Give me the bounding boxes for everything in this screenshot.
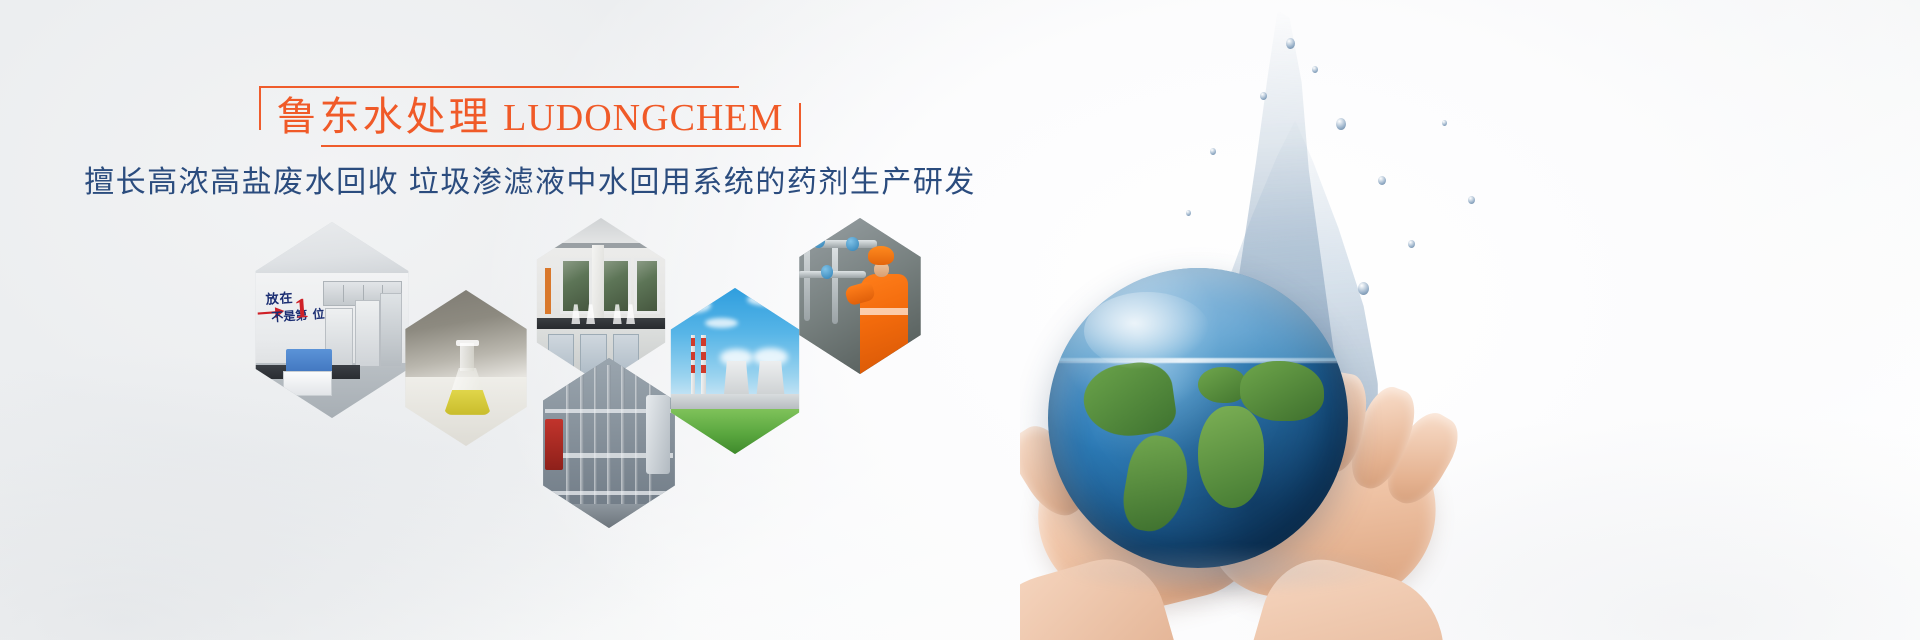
water-droplet — [1468, 196, 1475, 204]
photo-valve-handle-3 — [821, 265, 834, 279]
continent-asia — [1240, 361, 1324, 421]
photo-flask-neck — [460, 343, 474, 371]
hexagon-worker-operating-valves[interactable] — [790, 218, 930, 374]
earth-globe — [1048, 268, 1348, 568]
continent-north-america — [1079, 358, 1178, 442]
banner-text-block: 鲁东水处理 LUDONGCHEM 擅长高浓高盐废水回收 垃圾渗滤液中水回用系统的… — [0, 86, 1060, 202]
globe-waterline — [1048, 358, 1348, 363]
water-droplet — [1312, 66, 1318, 73]
photo-safety-helmet — [868, 246, 893, 265]
banner-subtitle: 擅长高浓高盐废水回收 垃圾渗滤液中水回用系统的药剂生产研发 — [0, 164, 1060, 202]
photo-industrial-piping — [533, 358, 685, 528]
frame-corner-bottom-right — [785, 103, 801, 147]
brand-title: 鲁东水处理 LUDONGCHEM — [277, 94, 784, 141]
water-droplet — [1378, 176, 1386, 185]
photo-tank — [646, 395, 670, 473]
water-droplet — [1408, 240, 1415, 248]
globe-highlight — [1084, 292, 1210, 370]
photo-chimney-2 — [701, 335, 706, 401]
continent-south-america — [1118, 432, 1194, 537]
photo-red-unit — [545, 419, 563, 470]
frame-top-rule — [259, 86, 740, 88]
water-droplet — [1260, 92, 1267, 100]
photo-valve-handle-2 — [846, 237, 859, 251]
water-ripple-shadow — [1060, 545, 1390, 595]
photo-window-3 — [634, 258, 661, 314]
photo-worker-operating-valves — [790, 218, 930, 374]
photo-laboratory-interior: 放在 不是第 1 位 — [244, 222, 420, 418]
slogan-number: 1 — [294, 295, 310, 324]
hexagon-laboratory-glassware[interactable] — [527, 218, 675, 384]
photo-vertical-pipe-2 — [832, 243, 838, 324]
water-droplet — [1286, 38, 1295, 49]
photo-cloud-3 — [705, 318, 738, 328]
photo-reflective-stripe — [860, 308, 908, 314]
photo-cloud-2 — [747, 293, 791, 306]
water-droplet — [1442, 120, 1447, 126]
photo-grass-field — [661, 409, 809, 454]
photo-cabinet-3 — [380, 293, 403, 367]
photo-flask-sample — [396, 290, 536, 446]
photo-orange-stand — [545, 268, 551, 314]
water-and-globe-artwork — [1020, 0, 1920, 640]
photo-chimney-1 — [691, 335, 696, 401]
photo-white-instrument — [283, 371, 332, 396]
brand-title-frame: 鲁东水处理 LUDONGCHEM — [259, 86, 802, 147]
continent-africa — [1198, 406, 1264, 508]
photo-laboratory-glassware — [527, 218, 675, 384]
frame-bottom-rule — [321, 145, 802, 147]
brand-title-cn: 鲁东水处理 — [277, 94, 492, 139]
photo-cloud-1 — [673, 298, 711, 313]
photo-cabinet-2 — [355, 300, 380, 367]
photo-ceiling — [244, 222, 420, 277]
photo-valve-handle-1 — [812, 234, 825, 248]
brand-title-en: LUDONGCHEM — [503, 97, 783, 139]
hexagon-laboratory-interior[interactable]: 放在 不是第 1 位 — [244, 222, 420, 418]
photo-flask-lip — [456, 340, 478, 346]
photo-wall-slogan: 放在 不是第 1 位 — [255, 284, 332, 332]
water-droplet — [1186, 210, 1191, 216]
hexagon-flask-sample[interactable] — [396, 290, 536, 446]
continent-europe — [1198, 367, 1246, 403]
hexagon-power-plant[interactable] — [661, 288, 809, 454]
promotional-banner: 鲁东水处理 LUDONGCHEM 擅长高浓高盐废水回收 垃圾渗滤液中水回用系统的… — [0, 0, 1920, 640]
frame-corner-top-left — [259, 86, 275, 130]
photo-cabinet-door-1 — [548, 334, 575, 377]
slogan-unit-text: 位 — [312, 304, 325, 322]
hexagon-industrial-piping[interactable] — [533, 358, 685, 528]
water-droplet — [1210, 148, 1216, 155]
slogan-top-text: 放在 — [265, 287, 294, 308]
photo-lab-bench — [527, 318, 675, 330]
photo-floor — [533, 504, 685, 528]
photo-horizontal-pipe-3 — [545, 491, 673, 495]
photo-power-plant — [661, 288, 809, 454]
photo-horizontal-pipe-1 — [798, 240, 876, 248]
water-droplet — [1336, 118, 1346, 130]
